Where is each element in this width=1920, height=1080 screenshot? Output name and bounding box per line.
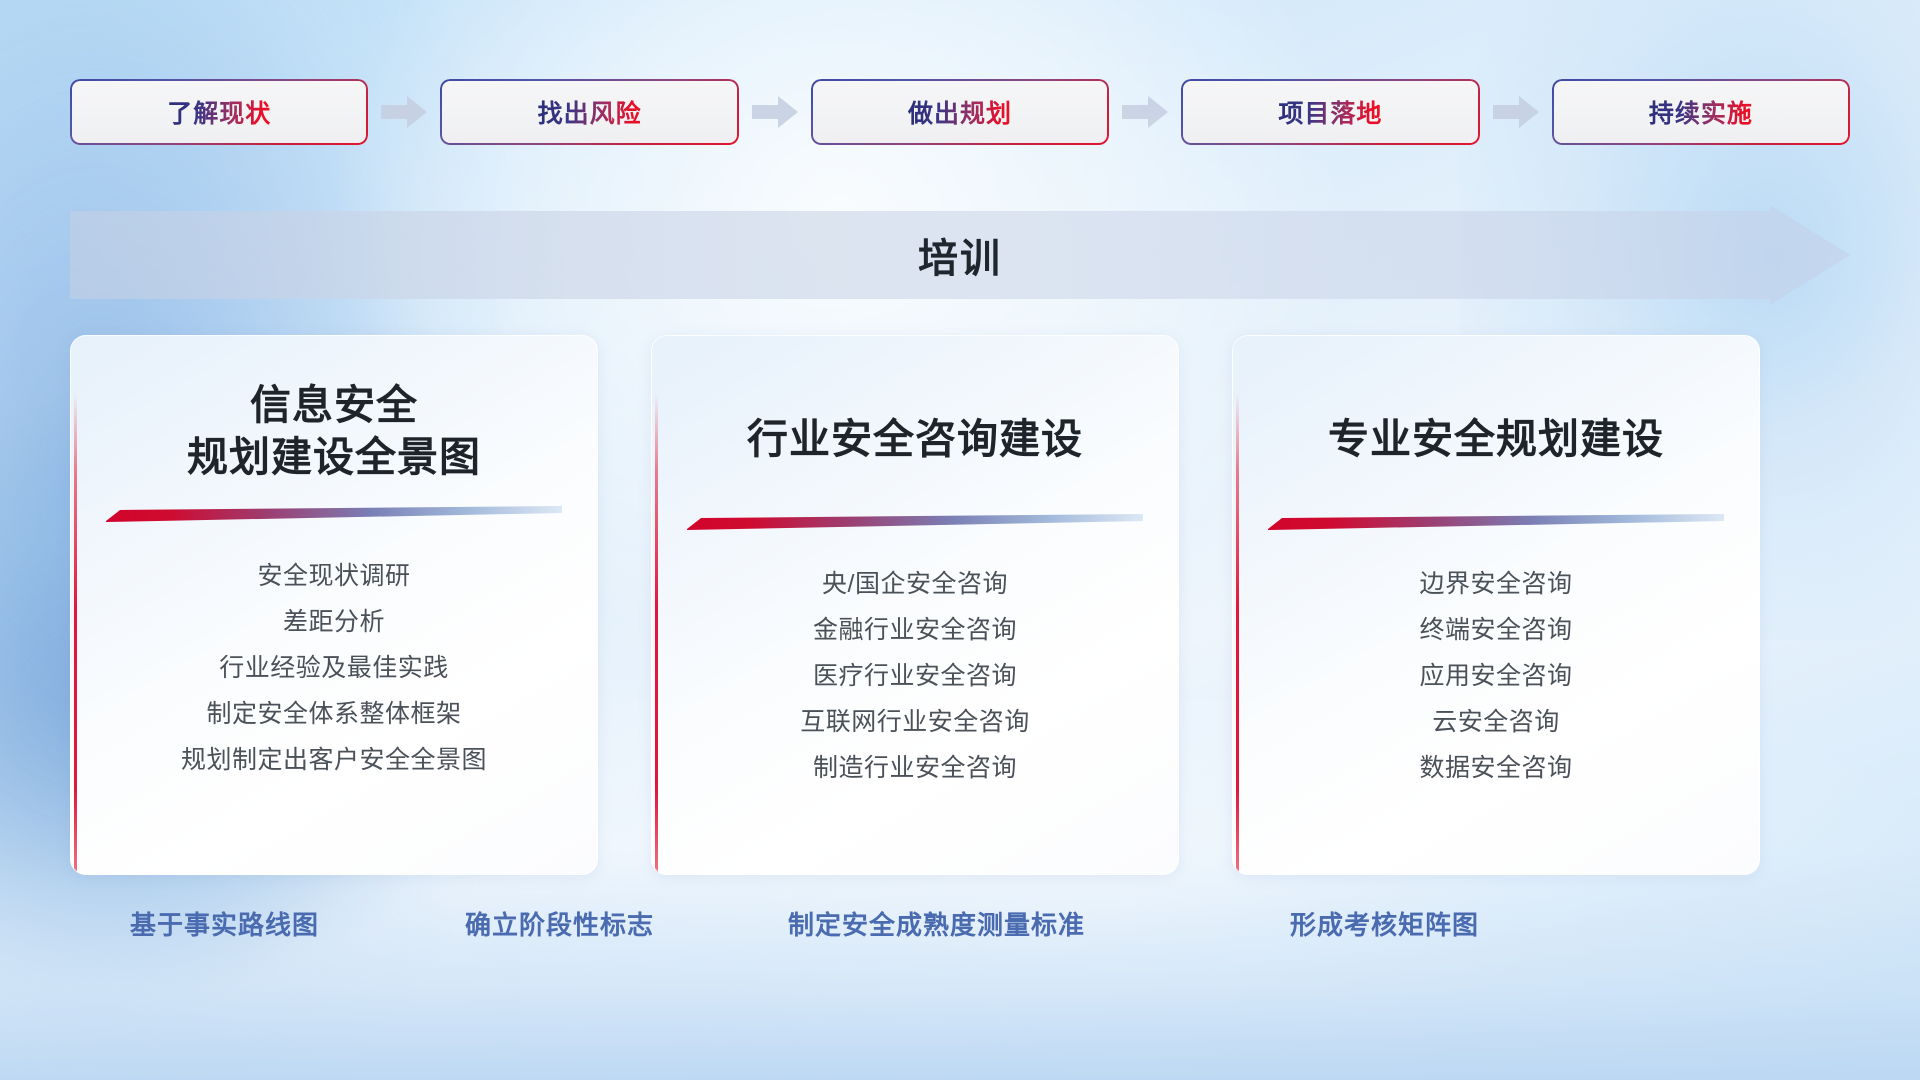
card-1-item-list: 安全现状调研 差距分析 行业经验及最佳实践 制定安全体系整体框架 规划制定出客户…	[106, 554, 562, 784]
flow-step-4-label: 项目落地	[1278, 94, 1382, 130]
list-item: 互联网行业安全咨询	[687, 700, 1143, 746]
flow-step-3[interactable]: 做出规划	[811, 79, 1109, 145]
list-item: 行业经验及最佳实践	[106, 646, 562, 692]
list-item: 金融行业安全咨询	[687, 608, 1143, 654]
flow-step-1[interactable]: 了解现状	[70, 79, 368, 145]
flow-step-5[interactable]: 持续实施	[1552, 79, 1850, 145]
flow-step-5-label: 持续实施	[1649, 94, 1753, 130]
card-1-title-line2: 规划建设全景图	[106, 431, 562, 483]
bottom-label-3: 制定安全成熟度测量标准	[788, 905, 1085, 942]
card-1-title-line1: 信息安全	[106, 379, 562, 431]
service-card-3[interactable]: 专业安全规划建设 边界安全咨询 终端安全咨询	[1232, 335, 1760, 875]
service-card-1[interactable]: 信息安全 规划建设全景图 安全现状调研 差	[70, 335, 598, 875]
arrow-right-icon	[752, 95, 798, 129]
card-2-red-accent-bar	[655, 393, 658, 875]
process-flow-row: 了解现状 找出风险 做出规划 项目落地 持续实施	[70, 77, 1850, 147]
card-1-title: 信息安全 规划建设全景图	[106, 379, 562, 484]
flow-step-1-label: 了解现状	[167, 94, 271, 130]
list-item: 医疗行业安全咨询	[687, 654, 1143, 700]
flow-step-2-label: 找出风险	[538, 94, 642, 130]
arrow-right-icon	[1493, 95, 1539, 129]
bottom-outcome-labels: 基于事实路线图 确立阶段性标志 制定安全成熟度测量标准 形成考核矩阵图	[0, 905, 1920, 961]
card-2-item-list: 央/国企安全咨询 金融行业安全咨询 医疗行业安全咨询 互联网行业安全咨询 制造行…	[687, 562, 1143, 792]
list-item: 应用安全咨询	[1268, 654, 1724, 700]
card-2-divider	[687, 514, 1143, 530]
bottom-label-4: 形成考核矩阵图	[1290, 905, 1479, 942]
card-3-divider	[1268, 514, 1724, 530]
flow-step-2[interactable]: 找出风险	[440, 79, 738, 145]
list-item: 安全现状调研	[106, 554, 562, 600]
bottom-label-1: 基于事实路线图	[130, 905, 319, 942]
card-3-item-list: 边界安全咨询 终端安全咨询 应用安全咨询 云安全咨询 数据安全咨询	[1268, 562, 1724, 792]
training-banner-title: 培训	[70, 205, 1850, 305]
flow-step-3-label: 做出规划	[908, 94, 1012, 130]
background-bottom-fade	[0, 850, 1920, 1080]
list-item: 制定安全体系整体框架	[106, 692, 562, 738]
service-card-2[interactable]: 行业安全咨询建设 央/国企安全咨询 金融行业安全咨询	[651, 335, 1179, 875]
list-item: 边界安全咨询	[1268, 562, 1724, 608]
card-3-red-accent-bar	[1236, 393, 1239, 875]
training-banner: 培训	[70, 205, 1850, 305]
list-item: 数据安全咨询	[1268, 746, 1724, 792]
flow-step-4[interactable]: 项目落地	[1181, 79, 1479, 145]
card-3-title-line1: 专业安全规划建设	[1268, 413, 1724, 465]
service-cards-row: 信息安全 规划建设全景图 安全现状调研 差	[70, 335, 1860, 875]
bottom-label-2: 确立阶段性标志	[465, 905, 654, 942]
list-item: 制造行业安全咨询	[687, 746, 1143, 792]
arrow-right-icon	[381, 95, 427, 129]
arrow-right-icon	[1122, 95, 1168, 129]
card-3-title: 专业安全规划建设	[1268, 413, 1724, 465]
card-1-red-accent-bar	[74, 393, 77, 875]
list-item: 差距分析	[106, 600, 562, 646]
card-2-title-line1: 行业安全咨询建设	[687, 413, 1143, 465]
list-item: 终端安全咨询	[1268, 608, 1724, 654]
list-item: 规划制定出客户安全全景图	[106, 738, 562, 784]
card-1-divider	[106, 506, 562, 522]
list-item: 云安全咨询	[1268, 700, 1724, 746]
list-item: 央/国企安全咨询	[687, 562, 1143, 608]
card-2-title: 行业安全咨询建设	[687, 413, 1143, 465]
